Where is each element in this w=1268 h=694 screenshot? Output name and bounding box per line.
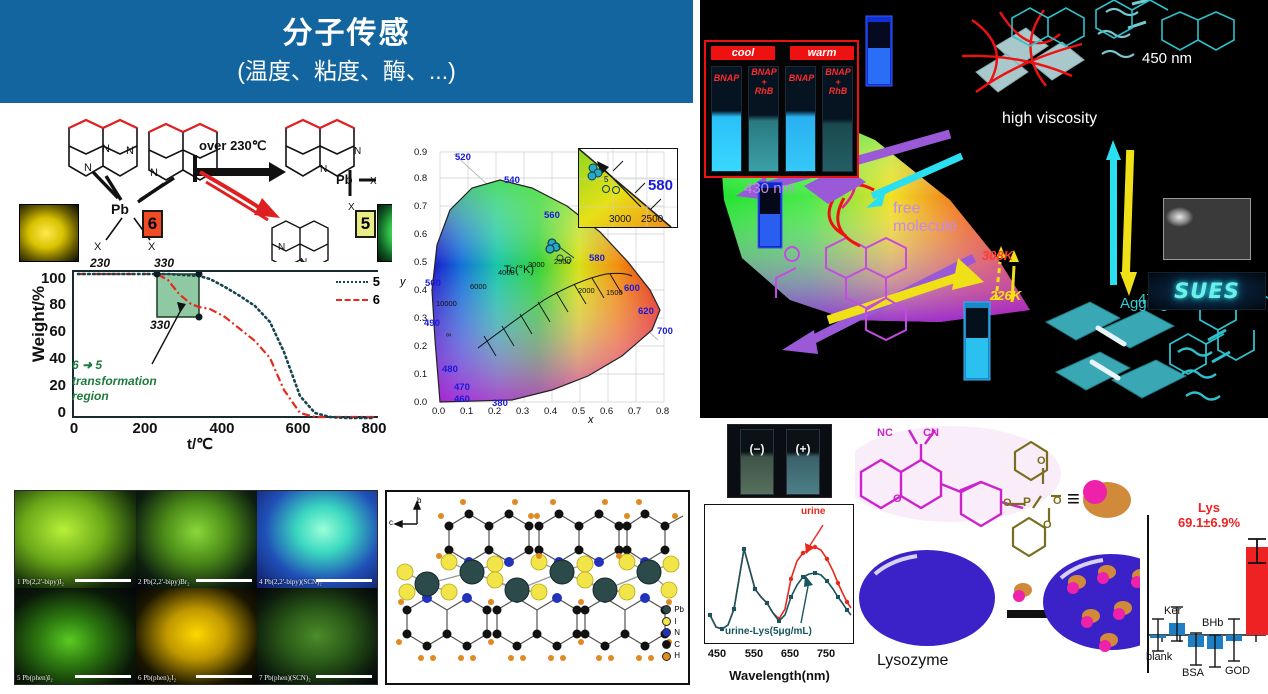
bar-category-ker: Ker (1164, 605, 1181, 617)
tga-series-6 (78, 274, 374, 417)
legend-atom-h: H (662, 650, 684, 662)
svg-text:X: X (94, 241, 102, 253)
spectrum-xtick-650: 650 (775, 648, 805, 660)
cuvette-label-2c: RhB (746, 87, 782, 96)
cie-wavelength-500: 500 (425, 278, 441, 289)
legend-label-5: 5 (373, 274, 380, 289)
equals-sign: ≡ (1067, 486, 1080, 512)
atom-label-c: C (674, 639, 680, 651)
emission-label-430nm: 430 nm (744, 180, 794, 197)
spectrum-plot-area (704, 504, 854, 644)
atom-dot-c (662, 640, 671, 649)
free-molecule-label-line1: free (893, 200, 957, 218)
spectrum-x-axis-label: Wavelength(nm) (697, 668, 862, 683)
reaction-scheme-panel: Pb X X N N N N N N (14, 110, 386, 268)
cie-x-axis-label: x (588, 414, 594, 426)
tga-xtick-400: 400 (204, 420, 240, 437)
byproduct-arrow (200, 172, 280, 220)
label-chromene-o: O (893, 493, 902, 505)
cie-xtick-7: 0.7 (628, 406, 641, 417)
lysozyme-after (1043, 554, 1140, 652)
crystal-cell-1: 1 Pb(2,2'-bipy)I₂ (15, 491, 136, 588)
spectrum-curves (705, 505, 852, 642)
cie-xtick-0: 0.0 (432, 406, 445, 417)
spectrum-xtick-550: 550 (739, 648, 769, 660)
cie-ytick-0: 0.0 (414, 397, 427, 408)
cie-ytick-7: 0.7 (414, 201, 427, 212)
axis-indicator (395, 502, 420, 527)
cie-inset-tc-3000: 3000 (609, 214, 631, 225)
free-molecule-label-line2: molecule (893, 218, 957, 236)
cie-ytick-8: 0.8 (414, 173, 427, 184)
cie-xtick-4: 0.4 (544, 406, 557, 417)
svg-text:N: N (84, 162, 92, 174)
atom-label-i: I (674, 616, 676, 628)
scale-bar-1 (75, 579, 131, 582)
cie-wavelength-380: 380 (492, 398, 508, 409)
lysozyme-schematic: NC CN O P O O O O (855, 424, 1140, 689)
sues-luminescent-photo: SUES (1148, 272, 1266, 310)
cie-xtick-3: 0.3 (516, 406, 529, 417)
cuvette-header-warm: warm (790, 46, 854, 60)
tga-xtick-0: 0 (56, 420, 92, 437)
cie-inset-zoom: 5 580 3000 2500 (578, 148, 678, 228)
crystal-cell-3: 4 Pb(2,2'-bipy)(SCN)₂ (257, 491, 377, 588)
cie-inset-wavelength: 580 (648, 177, 673, 194)
tga-legend-item-6: 6 (336, 292, 380, 307)
svg-text:N: N (354, 146, 361, 157)
label-cn: CN (923, 427, 939, 439)
spectrum-markers-urine (708, 545, 849, 631)
crystal-photo-grid: 1 Pb(2,2'-bipy)I₂ 2 Pb(2,2'-bipy)Br₂ 4 P… (14, 490, 378, 685)
atom-dot-i (662, 617, 671, 626)
free-molecule-label: free molecule (893, 200, 957, 235)
spectrum-cuvette-positive: (+) (786, 429, 820, 495)
temperature-label-226k: 226K (990, 288, 1021, 303)
label-phosphorus: P (1023, 495, 1031, 509)
pb-atom-label-product: Pb (336, 172, 353, 187)
lysozyme-label: Lysozyme (877, 652, 948, 670)
scale-bar-3 (316, 579, 372, 582)
tga-ytick-20: 20 (36, 377, 66, 394)
crystal-caption-3: 4 Pb(2,2'-bipy)(SCN)₂ (259, 578, 322, 586)
cie-wavelength-580: 580 (589, 253, 605, 264)
cie-tc-1500: 1500 (606, 288, 623, 297)
cie-xtick-6: 0.6 (600, 406, 613, 417)
scene-cuvette-blue-top (866, 16, 892, 86)
legend-line-5 (336, 281, 368, 283)
emission-label-450nm: 450 nm (1142, 50, 1192, 67)
spectrum-cuvette-photo: (−) (+) (727, 424, 832, 498)
cie-wavelength-470: 470 (454, 382, 470, 393)
transformation-region-box (157, 274, 199, 317)
cuvette-label-1: BNAP (708, 74, 745, 83)
label-po-double: O (1037, 455, 1046, 467)
cie-xtick-1: 0.1 (460, 406, 473, 417)
bar-category-blank: blank (1146, 651, 1172, 663)
scale-bar-4 (75, 675, 131, 678)
tga-x-axis-label: t/℃ (14, 435, 386, 453)
cuvette-label-4c: RhB (820, 87, 856, 96)
crystal-caption-6: 7 Pb(phen)(SCN)₂ (259, 674, 311, 682)
atom-label-h: H (674, 650, 680, 662)
tga-series-5 (78, 274, 374, 418)
selectivity-bar-chart-panel: Lys 69.1±6.9% (1140, 495, 1268, 689)
sem-micrograph (1163, 198, 1251, 260)
svg-text:5: 5 (604, 175, 609, 184)
crystal-caption-2: 2 Pb(2,2'-bipy)Br₂ (138, 578, 190, 586)
pb-atom-label-reactant: Pb (111, 201, 129, 217)
tga-chart-panel: Weight/% t/℃ 100 80 60 40 20 0 0 200 400… (14, 262, 386, 454)
page-title: 分子传感 (283, 16, 411, 52)
reaction-condition-label: over 230℃ (199, 138, 266, 154)
tga-region-label-1: 6 ➜ 5 (72, 358, 102, 372)
legend-atom-i: I (662, 616, 684, 628)
spectrum-label-urine: urine (801, 506, 825, 517)
cie-tc-6000: 6000 (470, 282, 487, 291)
cie-ytick-5: 0.5 (414, 257, 427, 268)
cie-tc-4000: 4000 (498, 268, 515, 277)
page-subtitle: (温度、粘度、酶、...) (237, 56, 456, 87)
compound-6-badge: 6 (142, 210, 163, 238)
cie-chromaticity-panel: x y Tc(°K) 0.0 0.1 0.2 0.3 0.4 0.5 0.6 0… (392, 140, 684, 432)
label-nc: NC (877, 427, 893, 439)
cie-wavelength-600: 600 (624, 283, 640, 294)
tga-ytick-80: 80 (36, 296, 66, 313)
cuvette-photo-box: cool warm BNAP BNAP + RhB BNAP BNAP + Rh… (704, 40, 859, 178)
crystal-cell-5: 6 Pb(phen)₂I₂ (136, 588, 257, 684)
structure-atom-legend: Pb I N C H (662, 604, 684, 662)
crystal-caption-1: 1 Pb(2,2'-bipy)I₂ (17, 578, 64, 586)
cie-tc-inf: ∞ (446, 330, 451, 339)
crystal-caption-4: 5 Pb(phen)I₂ (17, 674, 53, 682)
fluorescence-spectrum-panel: (−) (+) (697, 500, 862, 689)
crystal-caption-5: 6 Pb(phen)₂I₂ (138, 674, 176, 682)
atom-label-pb: Pb (674, 604, 684, 616)
cuvette-sign-negative: (−) (750, 442, 765, 456)
scale-bar-2 (196, 579, 252, 582)
tga-annotation-330-top: 330 (154, 256, 174, 270)
cie-wavelength-490: 490 (424, 318, 440, 329)
high-viscosity-label: high viscosity (1002, 110, 1097, 128)
svg-text:N: N (150, 167, 158, 179)
label-po-left: O (1003, 497, 1012, 509)
lysozyme-assay-panel: NC CN O P O O O O (855, 424, 1140, 689)
crystal-structure-diagram (387, 492, 688, 683)
cie-y-axis-label: y (400, 276, 406, 288)
cie-tc-3000: 3000 (528, 260, 545, 269)
spectrum-xtick-750: 750 (811, 648, 841, 660)
bar-category-bsa: BSA (1182, 667, 1204, 679)
tga-marker-330-bottom (196, 314, 203, 321)
cie-wavelength-460: 460 (454, 394, 470, 405)
svg-text:N: N (102, 143, 110, 155)
legend-atom-n: N (662, 627, 684, 639)
legend-atom-c: C (662, 639, 684, 651)
probe-icon (1083, 480, 1131, 518)
cie-wavelength-700: 700 (657, 326, 673, 337)
legend-atom-pb: Pb (662, 604, 684, 616)
cie-inset-tc-2500: 2500 (641, 214, 663, 225)
cuvette-label-3: BNAP (783, 74, 820, 83)
tga-ytick-40: 40 (36, 350, 66, 367)
bar-category-bhb: BHb (1202, 617, 1223, 629)
legend-line-6 (336, 299, 368, 301)
page-title-banner: 分子传感 (温度、粘度、酶、...) (0, 0, 693, 106)
spectrum-xtick-450: 450 (702, 648, 732, 660)
tga-plot-area (72, 270, 378, 418)
crystal-cell-2: 2 Pb(2,2'-bipy)Br₂ (136, 491, 257, 588)
cuvette-sign-positive: (+) (796, 442, 811, 456)
tga-annotation-330-bottom: 330 (150, 318, 170, 332)
cie-xtick-5: 0.5 (572, 406, 585, 417)
svg-text:X: X (348, 202, 355, 213)
scale-bar-6 (316, 675, 372, 678)
cie-tc-10000: 10000 (436, 299, 457, 308)
cie-wavelength-620: 620 (638, 306, 654, 317)
cie-tc-2000: 2000 (578, 286, 595, 295)
tga-legend-item-5: 5 (336, 274, 380, 289)
spectrum-cuvette-negative: (−) (740, 429, 774, 495)
tga-region-label-3: region (72, 389, 109, 403)
cie-ytick-1: 0.1 (414, 369, 427, 380)
sues-text: SUES (1174, 279, 1240, 303)
crystal-cell-4: 5 Pb(phen)I₂ (15, 588, 136, 684)
cie-ytick-2: 0.2 (414, 341, 427, 352)
atom-label-n: N (674, 627, 680, 639)
cie-wavelength-520: 520 (455, 152, 471, 163)
cie-ytick-6: 0.6 (414, 229, 427, 240)
cie-wavelength-480: 480 (442, 364, 458, 375)
label-po-right: O (1053, 495, 1062, 507)
svg-text:N: N (126, 145, 134, 157)
svg-text:X: X (148, 241, 156, 253)
atom-dot-pb (662, 605, 671, 614)
lysozyme-before (859, 550, 995, 646)
atom-dot-n (662, 628, 671, 637)
label-po-down: O (1043, 519, 1052, 531)
bar-category-god: GOD (1225, 665, 1250, 677)
cie-ytick-9: 0.9 (414, 147, 427, 158)
product-structure (286, 120, 376, 196)
cuvette-header-cool: cool (711, 46, 775, 60)
aggregates-cartoon (1046, 302, 1230, 400)
svg-text:N: N (278, 242, 285, 253)
compound-5-badge: 5 (355, 210, 376, 238)
legend-label-6: 6 (373, 292, 380, 307)
tga-curves (74, 272, 380, 420)
tga-region-label-2: transformation (72, 374, 157, 388)
temperature-label-308k: 308K (982, 248, 1013, 263)
scale-bar-5 (196, 675, 252, 678)
crystal-structure-panel: b c Pb I N C H (385, 490, 690, 685)
scene-cuvette-cyan-bottom (964, 302, 990, 380)
atom-dot-h (662, 652, 671, 661)
cie-wavelength-560: 560 (544, 210, 560, 221)
svg-text:X: X (370, 176, 377, 187)
tga-xtick-600: 600 (280, 420, 316, 437)
axis-label-b: b (417, 496, 421, 505)
cie-tc-2500: 2500 (554, 257, 571, 266)
axis-label-c: c (389, 518, 393, 527)
tga-annotation-230: 230 (90, 256, 110, 270)
crystal-photo-yellow (19, 204, 79, 262)
tga-ytick-100: 100 (36, 270, 66, 287)
tga-ytick-0: 0 (36, 404, 66, 421)
crystal-cell-6: 7 Pb(phen)(SCN)₂ (257, 588, 377, 684)
cie-wavelength-540: 540 (504, 175, 520, 186)
spectrum-label-urine-lys: urine-Lys(5μg/mL) (725, 626, 812, 637)
tga-xtick-200: 200 (127, 420, 163, 437)
cie-xtick-8: 0.8 (656, 406, 669, 417)
tga-ytick-60: 60 (36, 323, 66, 340)
svg-text:N: N (320, 164, 327, 175)
tga-legend: 5 6 (336, 274, 380, 310)
tga-xtick-800: 800 (356, 420, 392, 437)
aie-viscosity-panel: cool warm BNAP BNAP + RhB BNAP BNAP + Rh… (700, 0, 1268, 418)
